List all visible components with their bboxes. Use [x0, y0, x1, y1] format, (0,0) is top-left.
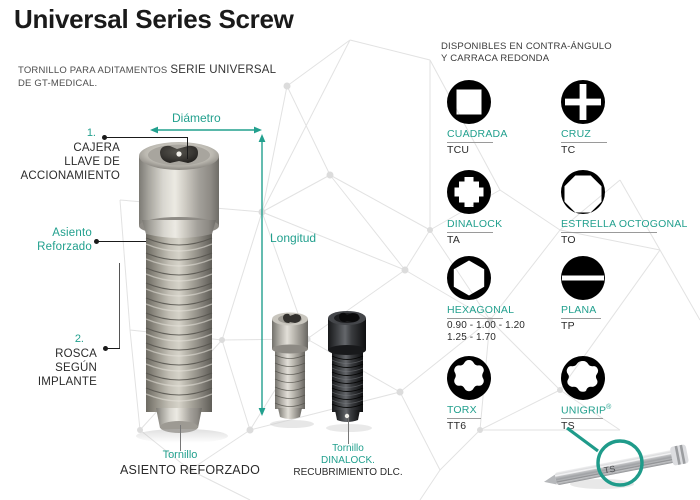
callout-2-leader [107, 348, 120, 349]
callout-2-line-1: ROSCA [0, 347, 97, 361]
caption-1-teal: Tornillo [130, 449, 230, 461]
seat-label-leader [98, 241, 146, 242]
callout-2-number: 2. [48, 333, 84, 345]
diameter-arrow [150, 124, 262, 136]
drive-rule [561, 232, 657, 233]
drive-name-cruz: CRUZ [561, 128, 591, 140]
small-screw-dlc-illustration [318, 302, 376, 432]
caption-2-leader [348, 418, 349, 444]
unigrip-drive-icon [561, 356, 605, 400]
seat-label-line-2: Reforzado [0, 240, 92, 254]
drives-panel-heading-line-1: DISPONIBLES EN CONTRA-ÁNGULO [441, 41, 612, 53]
callout-1-leader-vertical [187, 137, 188, 159]
drive-rule [447, 142, 493, 143]
screwdriver-illustration: TS [540, 422, 700, 500]
drives-panel-heading: DISPONIBLES EN CONTRA-ÁNGULO Y CARRACA R… [441, 41, 612, 65]
small-screw-steel-illustration [262, 305, 318, 430]
caption-1-dark: ASIENTO REFORZADO [120, 463, 240, 477]
drive-code-cuadrada: TCU [447, 144, 469, 156]
drive-name-hexagonal: HEXAGONAL [447, 304, 514, 316]
hexagonal-drive-icon [447, 256, 491, 300]
drive-code-estrella-octogonal: TO [561, 234, 576, 246]
callout-1-line-3: ACCIONAMIENTO [0, 169, 120, 183]
drive-code-torx: TT6 [447, 420, 466, 432]
length-dimension-label: Longitud [270, 231, 316, 245]
drive-name-torx: TORX [447, 404, 477, 416]
cross-drive-icon [561, 80, 605, 124]
callout-2-text: ROSCA SEGÚN IMPLANTE [0, 347, 97, 389]
caption-2-teal-line-2: DINALOCK. [300, 455, 396, 466]
drive-rule [447, 318, 503, 319]
drive-rule [447, 232, 493, 233]
caption-1-leader [180, 425, 181, 451]
intro-line1-big: SERIE UNIVERSAL [170, 64, 276, 76]
drive-name-plana: PLANA [561, 304, 596, 316]
drives-panel-heading-line-2: Y CARRACA REDONDA [441, 53, 612, 65]
flat-drive-icon [561, 256, 605, 300]
unigrip-highlight-leader [567, 428, 598, 451]
drive-rule [561, 418, 603, 419]
callout-2-line-2: SEGÚN [0, 361, 97, 375]
drive-code-cruz: TC [561, 144, 575, 156]
drive-size-line-1: 0.90 - 1.00 - 1.20 [447, 320, 525, 332]
dinalock-drive-icon [447, 170, 491, 214]
drive-rule [561, 142, 607, 143]
callout-1-leader [106, 137, 188, 138]
seat-label-line-1: Asiento [0, 226, 92, 240]
seat-label: Asiento Reforzado [0, 226, 92, 254]
callout-2-line-3: IMPLANTE [0, 375, 97, 389]
callout-1-line-2: LLAVE DE [0, 155, 120, 169]
drive-rule [561, 318, 601, 319]
drive-code-plana: TP [561, 320, 575, 332]
callout-1-text: CAJERA LLAVE DE ACCIONAMIENTO [0, 141, 120, 183]
callout-1-line-1: CAJERA [0, 141, 120, 155]
drive-size-line-2: 1.25 - 1.70 [447, 332, 525, 344]
diameter-dimension-label: Diámetro [172, 111, 221, 125]
callout-2-bracket [119, 263, 120, 348]
drive-name-dinalock: DINALOCK [447, 218, 502, 230]
length-arrow [256, 134, 268, 416]
drive-name-unigrip: UNIGRIP® [561, 404, 612, 417]
caption-2-teal-line-1: Tornillo [300, 443, 396, 454]
drive-name-unigrip-text: UNIGRIP [561, 405, 606, 417]
infographic-canvas: Universal Series Screw TORNILLO PARA ADI… [0, 0, 700, 500]
callout-1-number: 1. [60, 127, 96, 139]
drive-name-estrella-octogonal: ESTRELLA OCTOGONAL [561, 218, 688, 230]
page-title: Universal Series Screw [14, 4, 294, 35]
intro-line2: DE GT-MEDICAL. [18, 78, 276, 89]
octagonal-star-drive-icon [561, 170, 605, 214]
drive-rule [447, 418, 481, 419]
torx-drive-icon [447, 356, 491, 400]
drive-name-cuadrada: CUADRADA [447, 128, 508, 140]
intro-caption: TORNILLO PARA ADITAMENTOS SERIE UNIVERSA… [18, 64, 276, 89]
drive-code-dinalock: TA [447, 234, 460, 246]
caption-2-dark: RECUBRIMIENTO DLC. [286, 467, 410, 478]
intro-line1-small: TORNILLO PARA ADITAMENTOS [18, 65, 167, 76]
drive-sizes-hexagonal: 0.90 - 1.00 - 1.20 1.25 - 1.70 [447, 320, 525, 344]
square-drive-icon [447, 80, 491, 124]
registered-mark-icon: ® [606, 404, 611, 411]
